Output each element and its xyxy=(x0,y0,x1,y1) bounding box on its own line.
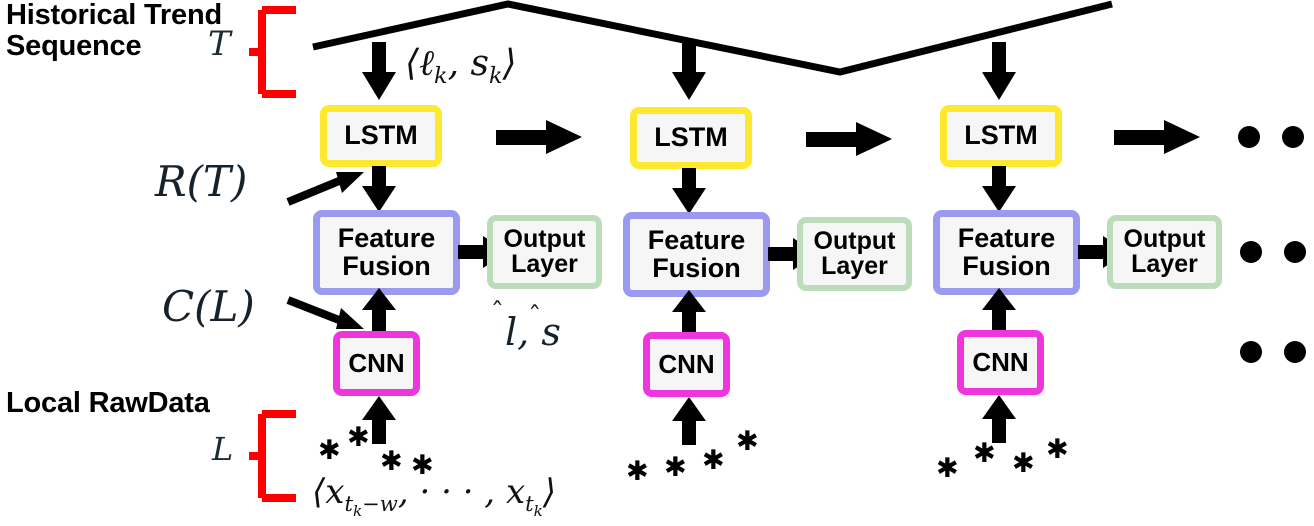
ellipsis-dot xyxy=(1284,341,1306,363)
pred-s-glyph: s xyxy=(541,310,561,354)
cnn-to-fusion-arrow-t2 xyxy=(672,290,708,338)
tuple-ell-sub: k xyxy=(434,63,448,89)
trend-repr-fn: R xyxy=(155,157,187,206)
lstm-to-fusion-arrow-t3 xyxy=(982,166,1018,214)
ellipsis-dot xyxy=(1238,126,1260,148)
cnn-repr-close: ) xyxy=(238,282,254,331)
rawdata-to-cnn-arrow-t3 xyxy=(982,395,1018,443)
raw-sample-asterisk: ✱ xyxy=(1012,450,1035,477)
lstm-box-t3[interactable]: LSTM xyxy=(940,105,1062,167)
ellipsis-lstm-row xyxy=(1238,126,1314,148)
historical-bracket-red xyxy=(248,6,308,102)
ellipsis-output-row xyxy=(1240,241,1314,263)
local-rawdata-caption: Local RawData xyxy=(6,388,266,419)
cnn-repr-fn: C xyxy=(162,282,194,331)
tuple-s: s xyxy=(470,43,488,84)
pred-s: ŝ xyxy=(541,310,561,354)
pred-l: l̂ xyxy=(505,310,517,354)
cnn-box-t3[interactable]: CNN xyxy=(957,330,1044,395)
output-layer-box-t2[interactable]: Output Layer xyxy=(797,217,912,291)
output-layer-box-t3[interactable]: Output Layer xyxy=(1107,215,1222,289)
lstm-recurrent-arrow-3 xyxy=(1114,120,1204,154)
historical-symbol-glyph: T xyxy=(208,24,231,64)
cnn-to-fusion-arrow-t1 xyxy=(362,288,398,336)
raw-sample-asterisk: ✱ xyxy=(1046,436,1069,463)
pred-l-glyph: l xyxy=(505,310,517,354)
raw-x1-sub-k: k xyxy=(353,502,362,520)
raw-sample-asterisk: ✱ xyxy=(973,440,996,467)
trend-representation-label: R(T) xyxy=(155,157,247,206)
tuple-close-bracket: ⟩ xyxy=(503,43,517,84)
pred-comma: , xyxy=(517,310,529,354)
local-symbol-glyph: L xyxy=(212,430,233,468)
trend-repr-open: ( xyxy=(187,157,203,206)
lstm-box-t2[interactable]: LSTM xyxy=(630,107,752,169)
rawdata-to-cnn-arrow-t2 xyxy=(672,397,708,445)
raw-window-label: ⟨xtk−w, · · · , xtk⟩ xyxy=(312,472,556,520)
cnn-box-t1[interactable]: CNN xyxy=(333,331,420,396)
ellipsis-dot xyxy=(1284,241,1306,263)
raw-close-bracket: ⟩ xyxy=(543,472,556,512)
raw-sample-asterisk: ✱ xyxy=(936,455,959,482)
input-arrow-t1 xyxy=(362,42,398,104)
raw-sample-asterisk: ✱ xyxy=(318,437,341,464)
raw-sample-asterisk: ✱ xyxy=(380,448,403,475)
lstm-recurrent-arrow-1 xyxy=(496,120,586,154)
raw-x2-sub-k: k xyxy=(534,502,543,520)
tuple-open-bracket: ⟨ xyxy=(405,43,419,84)
feature-fusion-box-t2[interactable]: Feature Fusion xyxy=(623,212,770,297)
feature-fusion-box-t1[interactable]: Feature Fusion xyxy=(313,210,460,295)
trend-repr-close: ) xyxy=(231,157,247,206)
lstm-box-t1[interactable]: LSTM xyxy=(320,105,442,167)
raw-sample-asterisk: ✱ xyxy=(664,454,687,481)
ellipsis-dot xyxy=(1282,126,1304,148)
cnn-to-fusion-arrow-t3 xyxy=(982,288,1018,336)
raw-x1-sub-t: t xyxy=(344,491,352,516)
lstm-recurrent-arrow-2 xyxy=(806,122,896,156)
ellipsis-cnn-row xyxy=(1240,341,1314,363)
raw-sample-asterisk: ✱ xyxy=(702,447,725,474)
input-arrow-t2 xyxy=(672,42,708,104)
tuple-s-sub: k xyxy=(489,63,503,89)
figure-canvas: Historical Trend Sequence T Local RawDat… xyxy=(0,0,1314,526)
raw-x2: x xyxy=(506,472,525,512)
tuple-ell: ℓ xyxy=(419,43,434,84)
raw-sample-asterisk: ✱ xyxy=(626,458,649,485)
cnn-repr-arg: L xyxy=(211,282,239,331)
raw-sample-asterisk: ✱ xyxy=(347,424,370,451)
raw-x1: x xyxy=(325,472,344,512)
lstm-to-fusion-arrow-t2 xyxy=(672,168,708,216)
local-symbol: L xyxy=(212,430,233,468)
tuple-comma: , xyxy=(448,43,459,84)
historical-symbol: T xyxy=(208,24,231,64)
cnn-representation-label: C(L) xyxy=(162,282,255,331)
raw-open-bracket: ⟨ xyxy=(312,472,325,512)
raw-x2-sub-t: t xyxy=(525,491,533,516)
raw-x1-sub-minusw: −w xyxy=(362,491,398,516)
input-tuple-label: ⟨ℓk, sk⟩ xyxy=(405,42,517,89)
output-prediction-label: l̂, ŝ xyxy=(505,310,561,354)
output-layer-box-t1[interactable]: Output Layer xyxy=(487,215,602,289)
ellipsis-dot xyxy=(1240,241,1262,263)
ellipsis-dot xyxy=(1240,341,1262,363)
raw-sample-asterisk: ✱ xyxy=(736,428,759,455)
cnn-repr-open: ( xyxy=(194,282,210,331)
raw-sample-asterisk: ✱ xyxy=(411,452,434,479)
local-bracket-red xyxy=(248,410,308,506)
feature-fusion-box-t3[interactable]: Feature Fusion xyxy=(933,210,1080,295)
lstm-to-fusion-arrow-t1 xyxy=(362,166,398,214)
trend-repr-arg: T xyxy=(203,157,231,206)
input-arrow-t3 xyxy=(982,42,1018,104)
cnn-box-t2[interactable]: CNN xyxy=(643,332,730,397)
